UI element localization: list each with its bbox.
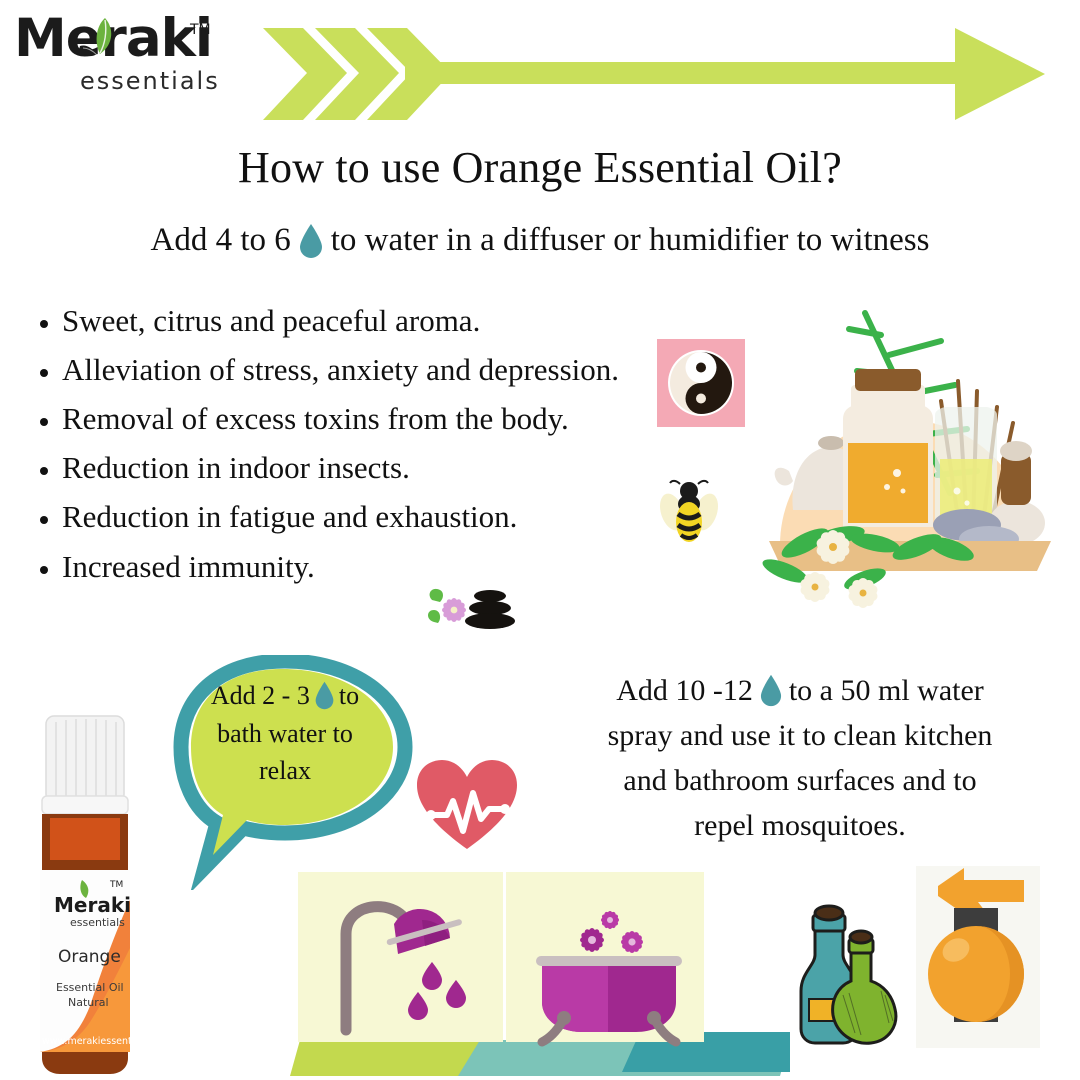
bath-line1-after: to — [339, 677, 359, 715]
list-item: Reduction in indoor insects. — [62, 444, 762, 491]
spa-diffuser-illustration — [745, 295, 1075, 620]
spray-line2: spray and use it to clean kitchen — [520, 713, 1080, 758]
spa-stones-flower-icon — [424, 582, 516, 634]
product-type-2: Natural — [68, 996, 109, 1009]
spray-instruction: Add 10 -12 to a 50 ml water spray and us… — [520, 668, 1080, 848]
product-bottle-image: Meraki TM essentials Orange Essential Oi… — [16, 700, 186, 1080]
list-item: Sweet, citrus and peaceful aroma. — [62, 297, 762, 344]
brand-trademark: TM — [190, 22, 211, 38]
page-title: How to use Orange Essential Oil? — [0, 142, 1080, 193]
bath-instruction-text: Add 2 - 3 to bath water to relax — [179, 677, 391, 790]
list-item: Reduction in fatigue and exhaustion. — [62, 493, 762, 540]
bee-icon — [658, 478, 720, 544]
diffuser-instruction: Add 4 to 6 to water in a diffuser or hum… — [0, 222, 1080, 259]
water-drop-icon — [298, 223, 324, 259]
product-type-1: Essential Oil — [56, 981, 124, 994]
product-website: www.merakiessentials.com — [42, 1036, 171, 1047]
diffuser-instruction-before: Add 4 to 6 — [150, 222, 290, 259]
diffuser-instruction-after: to water in a diffuser or humidifier to … — [331, 222, 930, 259]
product-brand: Meraki — [54, 893, 131, 917]
heartbeat-icon — [415, 757, 520, 853]
water-drop-icon — [759, 674, 783, 707]
spray-line1-after: to a 50 ml water — [789, 668, 984, 713]
infographic-canvas: Meraki TM essentials How to use Orange E… — [0, 0, 1080, 1080]
shower-panel — [298, 872, 503, 1042]
spray-line4: repel mosquitoes. — [520, 803, 1080, 848]
long-arrow-right-icon — [255, 20, 1070, 130]
spray-line3: and bathroom surfaces and to — [520, 758, 1080, 803]
brand-logo: Meraki TM essentials — [14, 12, 224, 107]
bath-instruction-bubble: Add 2 - 3 to bath water to relax — [165, 655, 415, 890]
spray-bottle-icon — [908, 862, 1048, 1052]
product-tagline: essentials — [70, 916, 125, 929]
benefits-list: Sweet, citrus and peaceful aroma. Allevi… — [22, 297, 762, 592]
glass-bottles-icon — [785, 895, 900, 1050]
leaf-hand-icon — [74, 16, 122, 74]
spray-line1-before: Add 10 -12 — [616, 668, 753, 713]
water-drop-icon — [314, 681, 335, 710]
brand-tagline: essentials — [80, 69, 220, 93]
list-item: Increased immunity. — [62, 543, 762, 590]
product-trademark: TM — [109, 880, 123, 890]
bath-line2: bath water to — [179, 715, 391, 753]
bathroom-scene — [290, 862, 790, 1080]
product-variant: Orange — [58, 947, 121, 967]
yin-yang-icon — [657, 339, 745, 427]
bath-line1-before: Add 2 - 3 — [211, 677, 310, 715]
product-bottle: Meraki TM essentials Orange Essential Oi… — [16, 700, 186, 1080]
bath-line3: relax — [179, 752, 391, 790]
